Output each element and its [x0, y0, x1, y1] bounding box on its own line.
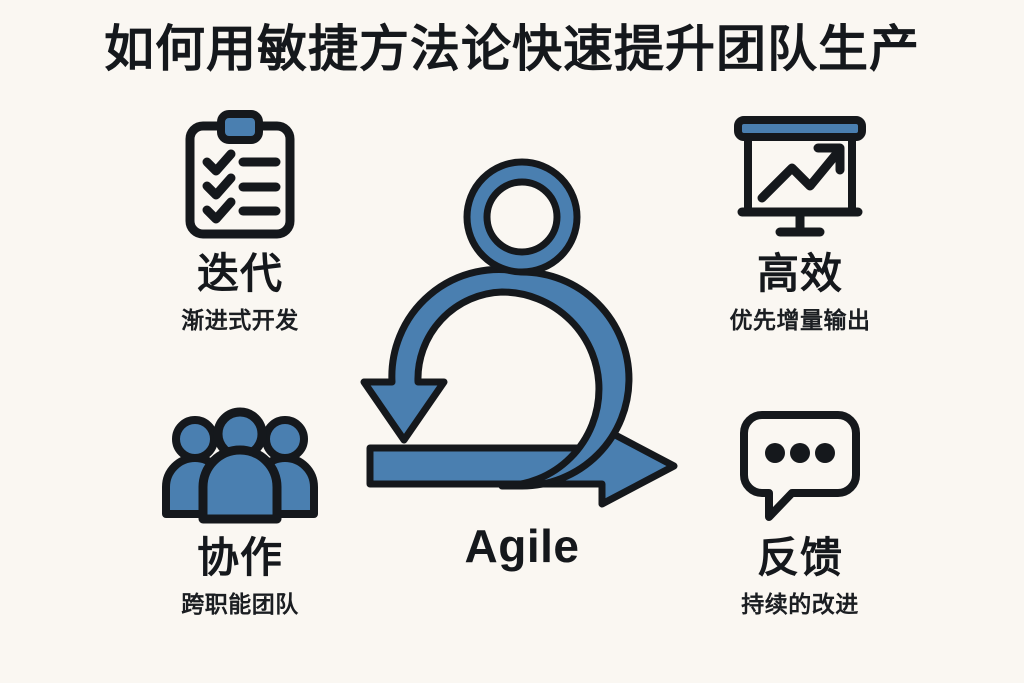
infographic-poster: 如何用敏捷方法论快速提升团队生产 迭代 渐进式开发: [0, 0, 1024, 683]
feature-block-efficiency: 高效 优先增量输出: [670, 112, 930, 336]
center-caption: Agile: [352, 518, 692, 574]
people-group-icon: [110, 408, 370, 526]
feature-subtitle: 跨职能团队: [110, 588, 370, 620]
clipboard-checklist-icon: [110, 112, 370, 242]
feature-label: 反馈: [670, 532, 930, 584]
feature-subtitle: 持续的改进: [670, 588, 930, 620]
speech-bubble-dots-icon: [670, 408, 930, 526]
agile-spiral-icon: [352, 160, 692, 505]
feature-subtitle: 渐进式开发: [110, 304, 370, 336]
presentation-growth-chart-icon: [670, 112, 930, 242]
feature-block-feedback: 反馈 持续的改进: [670, 408, 930, 620]
page-title: 如何用敏捷方法论快速提升团队生产: [0, 18, 1024, 80]
feature-block-collaboration: 协作 跨职能团队: [110, 408, 370, 620]
feature-subtitle: 优先增量输出: [670, 304, 930, 336]
feature-label: 迭代: [110, 248, 370, 300]
feature-label: 高效: [670, 248, 930, 300]
feature-label: 协作: [110, 532, 370, 584]
feature-block-iteration: 迭代 渐进式开发: [110, 112, 370, 336]
